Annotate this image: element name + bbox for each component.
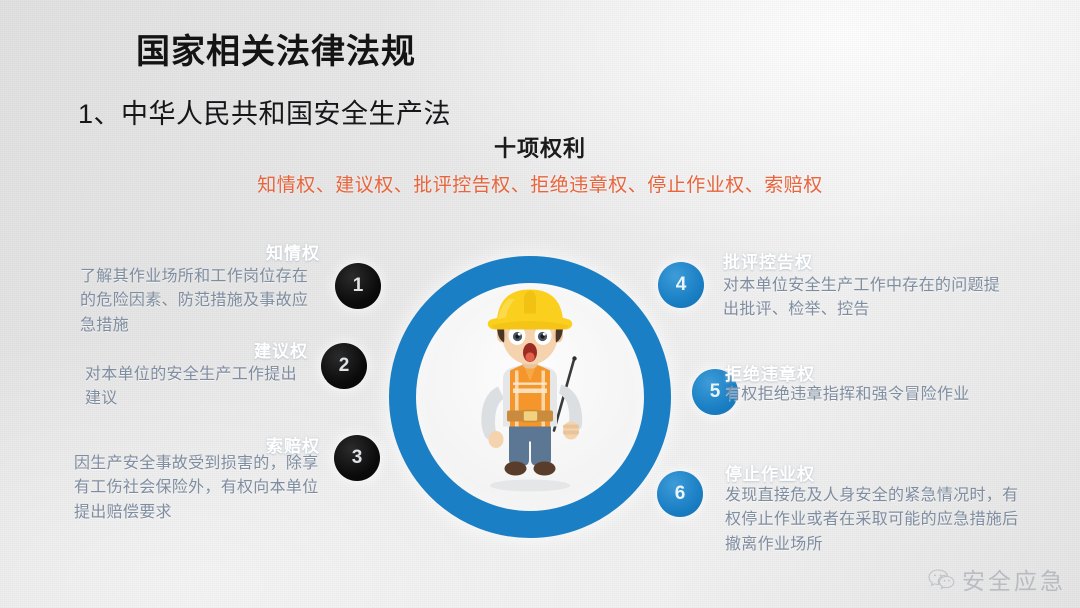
item-body-6: 发现直接危及人身安全的紧急情况时，有权停止作业或者在采取可能的应急措施后撤离作业… xyxy=(725,484,1020,557)
item-body-2: 对本单位的安全生产工作提出建议 xyxy=(85,363,311,412)
badge-number: 4 xyxy=(676,274,687,296)
item-heading-2: 建议权 xyxy=(80,337,308,362)
item-body-5: 有权拒绝违章指挥和强令冒险作业 xyxy=(725,383,995,407)
slide-canvas: 国家相关法律法规 1、中华人民共和国安全生产法 十项权利 知情权、建议权、批评控… xyxy=(0,0,1080,608)
badge-number: 5 xyxy=(710,381,721,403)
rights-summary-line: 知情权、建议权、批评控告权、拒绝违章权、停止作业权、索赔权 xyxy=(0,170,1080,197)
watermark-text: 安全应急 xyxy=(962,562,1066,596)
wechat-icon xyxy=(928,568,955,591)
worker-left-hand xyxy=(489,431,504,448)
worker-helmet xyxy=(488,289,572,329)
center-ring-graphic xyxy=(389,256,671,538)
badge-4[interactable]: 4 xyxy=(658,262,704,308)
worker-left-shoe xyxy=(505,461,527,475)
worker-right-shoe xyxy=(534,461,556,475)
item-heading-4: 批评控告权 xyxy=(723,248,1003,273)
worker-left-sleeve xyxy=(481,386,504,439)
law-subtitle: 1、中华人民共和国安全生产法 xyxy=(78,92,451,131)
item-heading-1: 知情权 xyxy=(80,239,320,264)
badge-number: 6 xyxy=(675,483,686,505)
badge-number: 1 xyxy=(353,275,364,297)
badge-6[interactable]: 6 xyxy=(657,471,703,517)
badge-2[interactable]: 2 xyxy=(321,343,367,389)
safety-worker-illustration xyxy=(435,278,625,493)
item-body-1: 了解其作业场所和工作岗位存在的危险因素、防范措施及事故应急措施 xyxy=(80,265,320,338)
badge-number: 3 xyxy=(352,447,363,469)
page-title: 国家相关法律法规 xyxy=(136,24,416,73)
item-body-4: 对本单位安全生产工作中存在的问题提出批评、检举、控告 xyxy=(723,274,1013,323)
belt-buckle xyxy=(523,410,538,421)
item-heading-5: 拒绝违章权 xyxy=(725,360,1005,385)
badge-3[interactable]: 3 xyxy=(334,435,380,481)
worker-jeans xyxy=(509,425,551,465)
section-title: 十项权利 xyxy=(0,131,1080,163)
badge-number: 2 xyxy=(339,355,350,377)
watermark: 安全应急 xyxy=(928,562,1066,596)
item-heading-6: 停止作业权 xyxy=(725,460,1005,485)
badge-1[interactable]: 1 xyxy=(335,263,381,309)
item-body-3: 因生产安全事故受到损害的，除享有工伤社会保险外，有权向本单位提出赔偿要求 xyxy=(74,452,322,525)
